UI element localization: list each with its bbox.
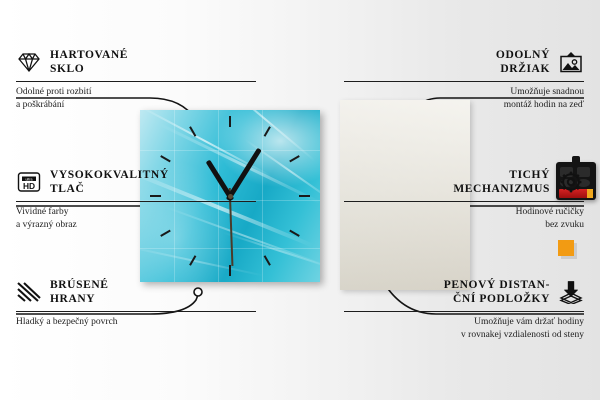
mechanism-shaft (572, 156, 580, 164)
feature-tempered-glass: HARTOVANÉ SKLO Odolné proti rozbití a po… (16, 48, 256, 111)
divider (16, 81, 256, 82)
feature-title: VYSOKOKVALITNÝ TLAČ (50, 168, 169, 197)
feature-high-quality-print: ultra HD VYSOKOKVALITNÝ TLAČ Vividné far… (16, 168, 256, 231)
divider (344, 311, 584, 312)
clock-tick (299, 195, 310, 197)
divider (16, 201, 256, 202)
feature-polished-edges: BRÚSENÉ HRANY Hladký a bezpečný povrch (16, 278, 256, 329)
divider (344, 81, 584, 82)
divider (344, 201, 584, 202)
diamond-icon (16, 50, 42, 74)
ultra-hd-icon: ultra HD (16, 170, 42, 194)
svg-text:HD: HD (23, 181, 35, 191)
clock-tick (160, 155, 171, 162)
feature-header: TICHÝ MECHANIZMUS (344, 168, 584, 197)
feature-title: TICHÝ MECHANIZMUS (453, 168, 550, 197)
feature-header: HARTOVANÉ SKLO (16, 48, 256, 77)
clock-tick (229, 265, 231, 276)
clock-tick (229, 116, 231, 127)
feature-header: BRÚSENÉ HRANY (16, 278, 256, 307)
feature-header: ultra HD VYSOKOKVALITNÝ TLAČ (16, 168, 256, 197)
feature-header: PENOVÝ DISTAN- ČNÍ PODLOŽKY (344, 278, 584, 307)
arrow-down-stack-icon (558, 280, 584, 304)
feature-foam-spacers: PENOVÝ DISTAN- ČNÍ PODLOŽKY Umožňuje vám… (344, 278, 584, 341)
clock-tick (289, 155, 300, 162)
foam-spacer-pad (558, 240, 574, 256)
feature-description: Odolné proti rozbití a poškrábání (16, 86, 256, 112)
diagonal-stripes-icon (16, 280, 42, 304)
feature-silent-mechanism: TICHÝ MECHANIZMUS (344, 168, 584, 231)
feature-durable-hanger: ODOLNÝ DRŽIAK Umožňuje snadnou montáž ho… (344, 48, 584, 111)
picture-hanger-icon (558, 50, 584, 74)
infographic-canvas: HARTOVANÉ SKLO Odolné proti rozbití a po… (0, 0, 600, 400)
feature-title: ODOLNÝ DRŽIAK (496, 48, 550, 77)
clock-tick (264, 255, 271, 266)
divider (16, 311, 256, 312)
gear-icon (558, 170, 584, 194)
feature-title: BRÚSENÉ HRANY (50, 278, 109, 307)
clock-tick (264, 126, 271, 137)
feature-description: Umožňuje vám držať hodiny v rovnakej vzd… (344, 316, 584, 342)
feature-title: PENOVÝ DISTAN- ČNÍ PODLOŽKY (444, 278, 550, 307)
feature-description: Umožňuje snadnou montáž hodin na zeď (344, 86, 584, 112)
feature-description: Vividné farby a výrazný obraz (16, 206, 256, 232)
feature-header: ODOLNÝ DRŽIAK (344, 48, 584, 77)
feature-description: Hladký a bezpečný povrch (16, 316, 256, 329)
feature-title: HARTOVANÉ SKLO (50, 48, 128, 77)
feature-description: Hodinové ručičky bez zvuku (344, 206, 584, 232)
